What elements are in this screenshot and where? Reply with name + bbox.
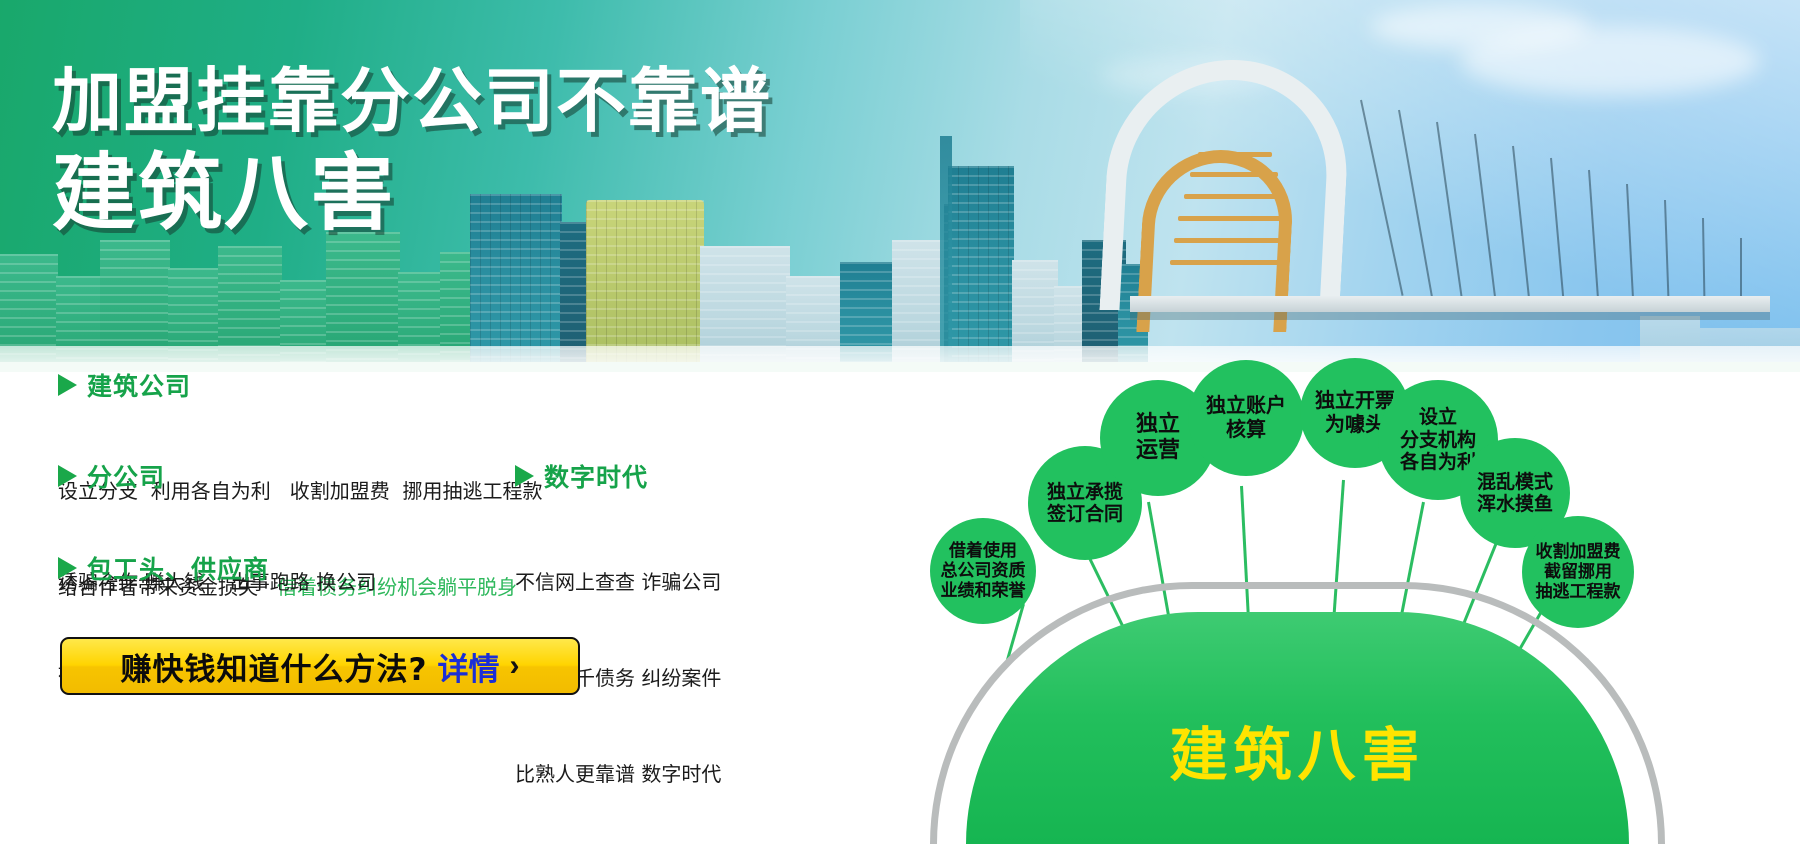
triangle-bullet-icon xyxy=(58,465,77,487)
section-header: 分公司 xyxy=(58,458,376,494)
triangle-bullet-icon xyxy=(58,557,77,579)
section-title: 数字时代 xyxy=(544,458,648,494)
diagram-eight-harms: 建筑八害 借着使用 总公司资质 业绩和荣誉 独立承揽 签订合同 独立 运营 独立… xyxy=(900,372,1800,844)
dome-center-label: 建筑八害 xyxy=(966,612,1629,844)
bubble-label: 独立承揽 签订合同 xyxy=(1047,481,1123,526)
hero-banner: 加盟挂靠分公司不靠谱 建筑八害 xyxy=(0,0,1800,372)
hero-title-line-2: 建筑八害 xyxy=(52,146,772,240)
bridge-illustration xyxy=(1130,60,1770,360)
section-title: 建筑公司 xyxy=(87,367,191,403)
section-title: 包工头、供应商 xyxy=(87,550,269,586)
section-header: 包工头、供应商 xyxy=(58,550,383,586)
section-header: 数字时代 xyxy=(515,458,721,494)
hero-title: 加盟挂靠分公司不靠谱 建筑八害 xyxy=(52,62,772,240)
content-left: 建筑公司 设立分支 利用各自为利 收割加盟费 挪用抽逃工程款 给合作者带来资金损… xyxy=(0,372,900,844)
section-line-1: 不信网上查查 诈骗公司 xyxy=(515,566,721,598)
bubble-label: 独立账户 核算 xyxy=(1206,394,1286,441)
chevron-right-icon: › xyxy=(509,651,519,681)
bubble-item[interactable]: 收割加盟费 截留挪用 抽逃工程款 xyxy=(1522,516,1634,628)
bubble-label: 设立 分支机构 各自为利 xyxy=(1400,406,1476,473)
bubble-label: 独立 运营 xyxy=(1136,412,1180,464)
cta-details-link[interactable]: 详情 xyxy=(437,644,499,689)
triangle-bullet-icon xyxy=(58,374,77,396)
hero-title-line-1: 加盟挂靠分公司不靠谱 xyxy=(52,62,772,140)
poster-root: 加盟挂靠分公司不靠谱 建筑八害 建筑公司 设立分支 利用各自为利 收割加盟费 挪… xyxy=(0,0,1800,844)
cloud-decoration xyxy=(1370,4,1590,50)
triangle-bullet-icon xyxy=(515,465,534,487)
section-line-3: 比熟人更靠谱 数字时代 xyxy=(515,758,721,790)
bubble-item[interactable]: 借着使用 总公司资质 业绩和荣誉 xyxy=(930,518,1036,624)
cta-button[interactable]: 赚快钱知道什么方法? 详情 › xyxy=(60,637,580,695)
bubble-label: 借着使用 总公司资质 业绩和荣誉 xyxy=(941,541,1026,601)
bubble-label: 收割加盟费 截留挪用 抽逃工程款 xyxy=(1536,542,1621,602)
section-header: 建筑公司 xyxy=(58,367,543,403)
dome-center-text: 建筑八害 xyxy=(1169,708,1425,792)
bubble-item[interactable]: 独立账户 核算 xyxy=(1188,360,1304,476)
section-title: 分公司 xyxy=(87,458,165,494)
cta-question-label: 赚快钱知道什么方法? xyxy=(121,644,428,689)
bubble-label: 混乱模式 浑水摸鱼 xyxy=(1477,471,1553,516)
